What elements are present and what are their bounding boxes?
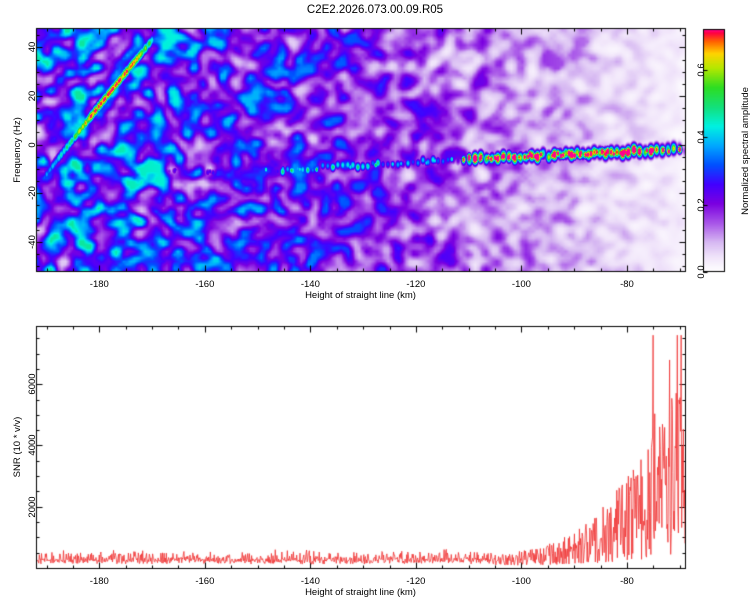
snr-xtick-5: -80 — [620, 577, 634, 587]
snr-xtick-1: -160 — [195, 577, 214, 587]
spectrogram-xtick-2: -140 — [301, 280, 320, 290]
snr-y-axis-label: SNR (10 * v/v) — [13, 417, 23, 478]
spectrogram-xtick-0: -180 — [90, 280, 109, 290]
colorbar-tick-3: 0.6 — [697, 63, 707, 76]
colorbar-tick-1: 0.2 — [697, 198, 707, 211]
spectrogram-ytick-0: 40 — [28, 42, 38, 53]
snr-xtick-0: -180 — [90, 577, 109, 587]
spectrogram-ytick-1: 20 — [28, 91, 38, 102]
spectrogram-ytick-4: -40 — [28, 235, 38, 249]
snr-x-axis-label: Height of straight line (km) — [305, 588, 416, 598]
colorbar-tick-0: 0.0 — [697, 265, 707, 278]
colorbar-label: Normalized spectral amplitude — [741, 87, 750, 215]
figure-title: C2E2.2026.073.00.09.R05 — [0, 5, 750, 17]
spectrogram-xtick-1: -160 — [195, 280, 214, 290]
snr-ytick-0: 2000 — [28, 496, 38, 517]
spectrogram-y-axis-label: Frequency (Hz) — [13, 117, 23, 182]
snr-ytick-1: 4000 — [28, 435, 38, 456]
spectrogram-x-axis-label: Height of straight line (km) — [305, 291, 416, 301]
spectrogram-ytick-2: 0 — [28, 142, 38, 147]
spectrogram-ytick-3: -20 — [28, 186, 38, 200]
spectrogram-xtick-3: -120 — [406, 280, 425, 290]
spectrogram-xtick-4: -100 — [512, 280, 531, 290]
snr-xtick-3: -120 — [406, 577, 425, 587]
snr-xtick-4: -100 — [512, 577, 531, 587]
figure-container: C2E2.2026.073.00.09.R05 Height of straig… — [0, 0, 750, 600]
colorbar-tick-2: 0.4 — [697, 130, 707, 143]
snr-xtick-2: -140 — [301, 577, 320, 587]
spectrogram-xtick-5: -80 — [620, 280, 634, 290]
snr-ytick-2: 6000 — [28, 374, 38, 395]
